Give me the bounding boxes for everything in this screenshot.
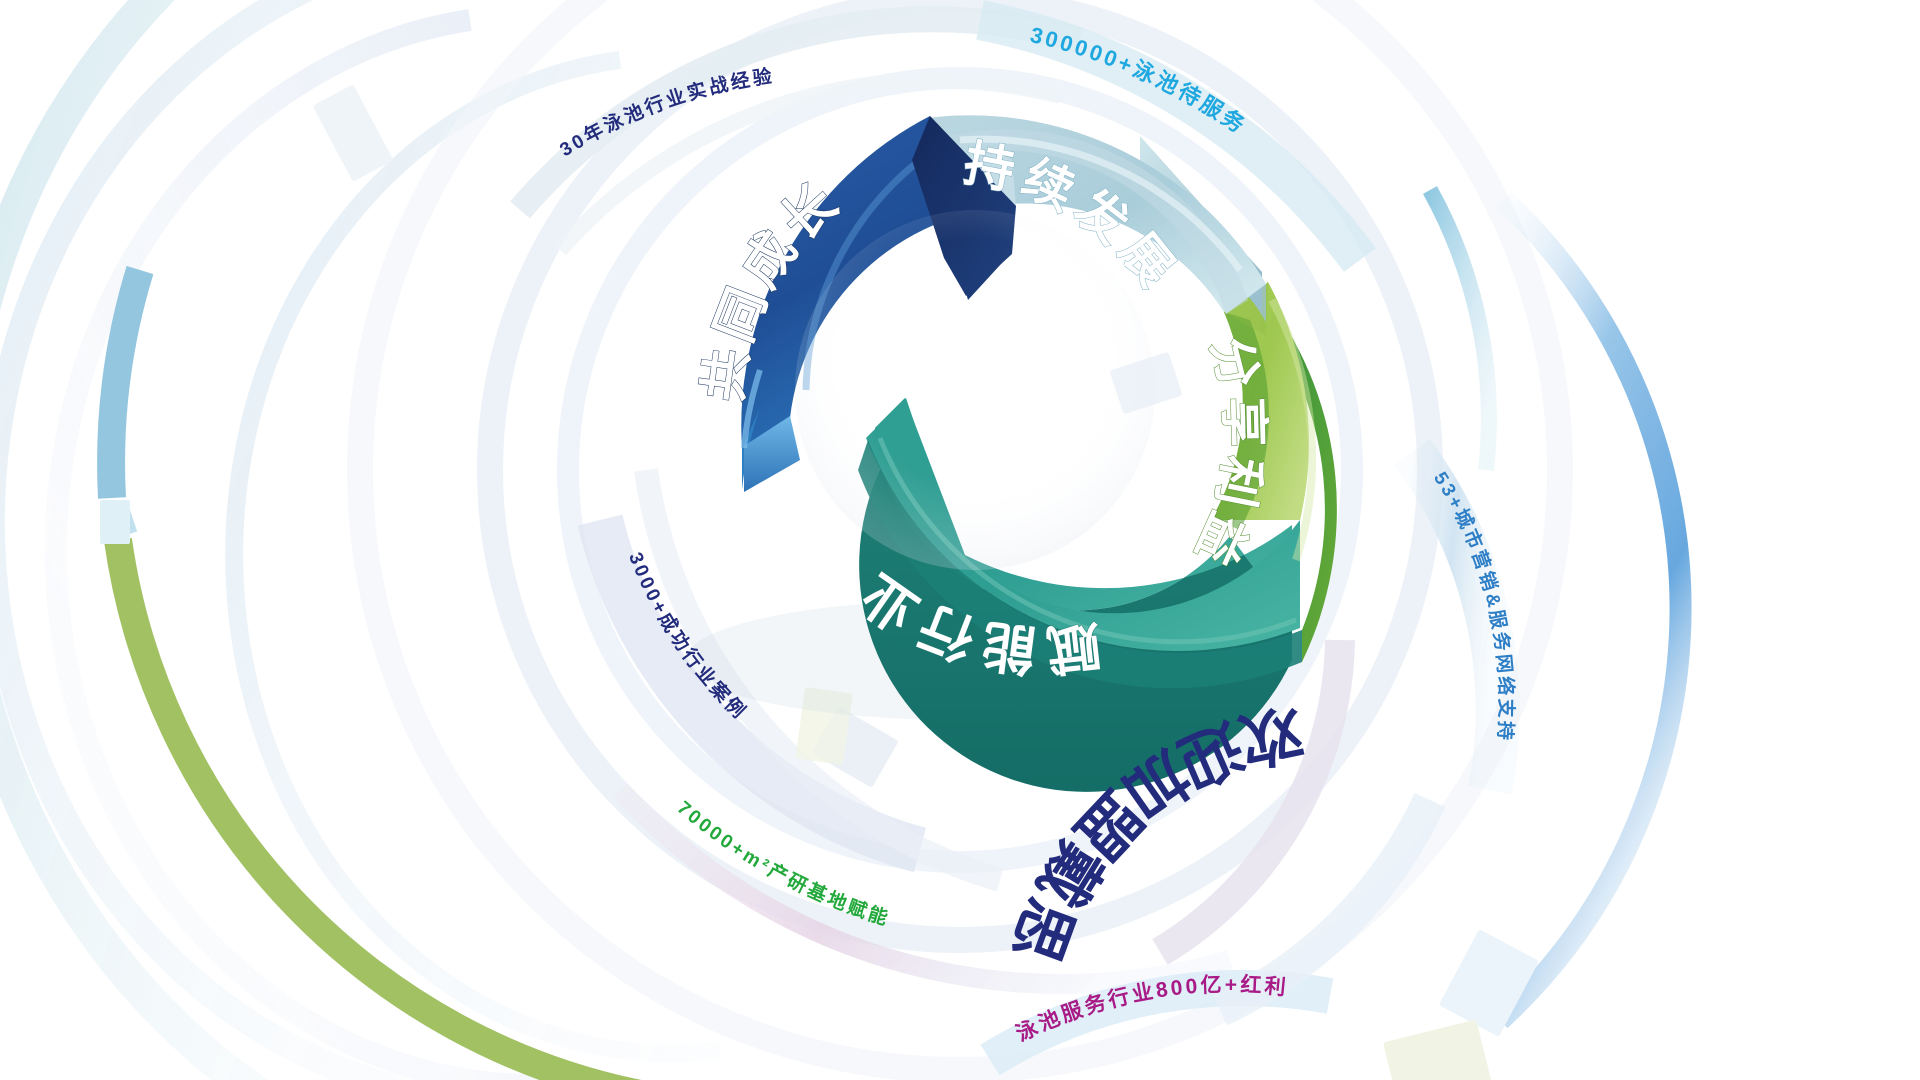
background-arc-group [0, 0, 1681, 1080]
poster-artwork: 共同成长 持续发展 分享利益 赋能行业 30年泳池行业实战经验 300000+泳… [0, 0, 1920, 1080]
poster-canvas: 共同成长 持续发展 分享利益 赋能行业 30年泳池行业实战经验 300000+泳… [0, 0, 1920, 1080]
